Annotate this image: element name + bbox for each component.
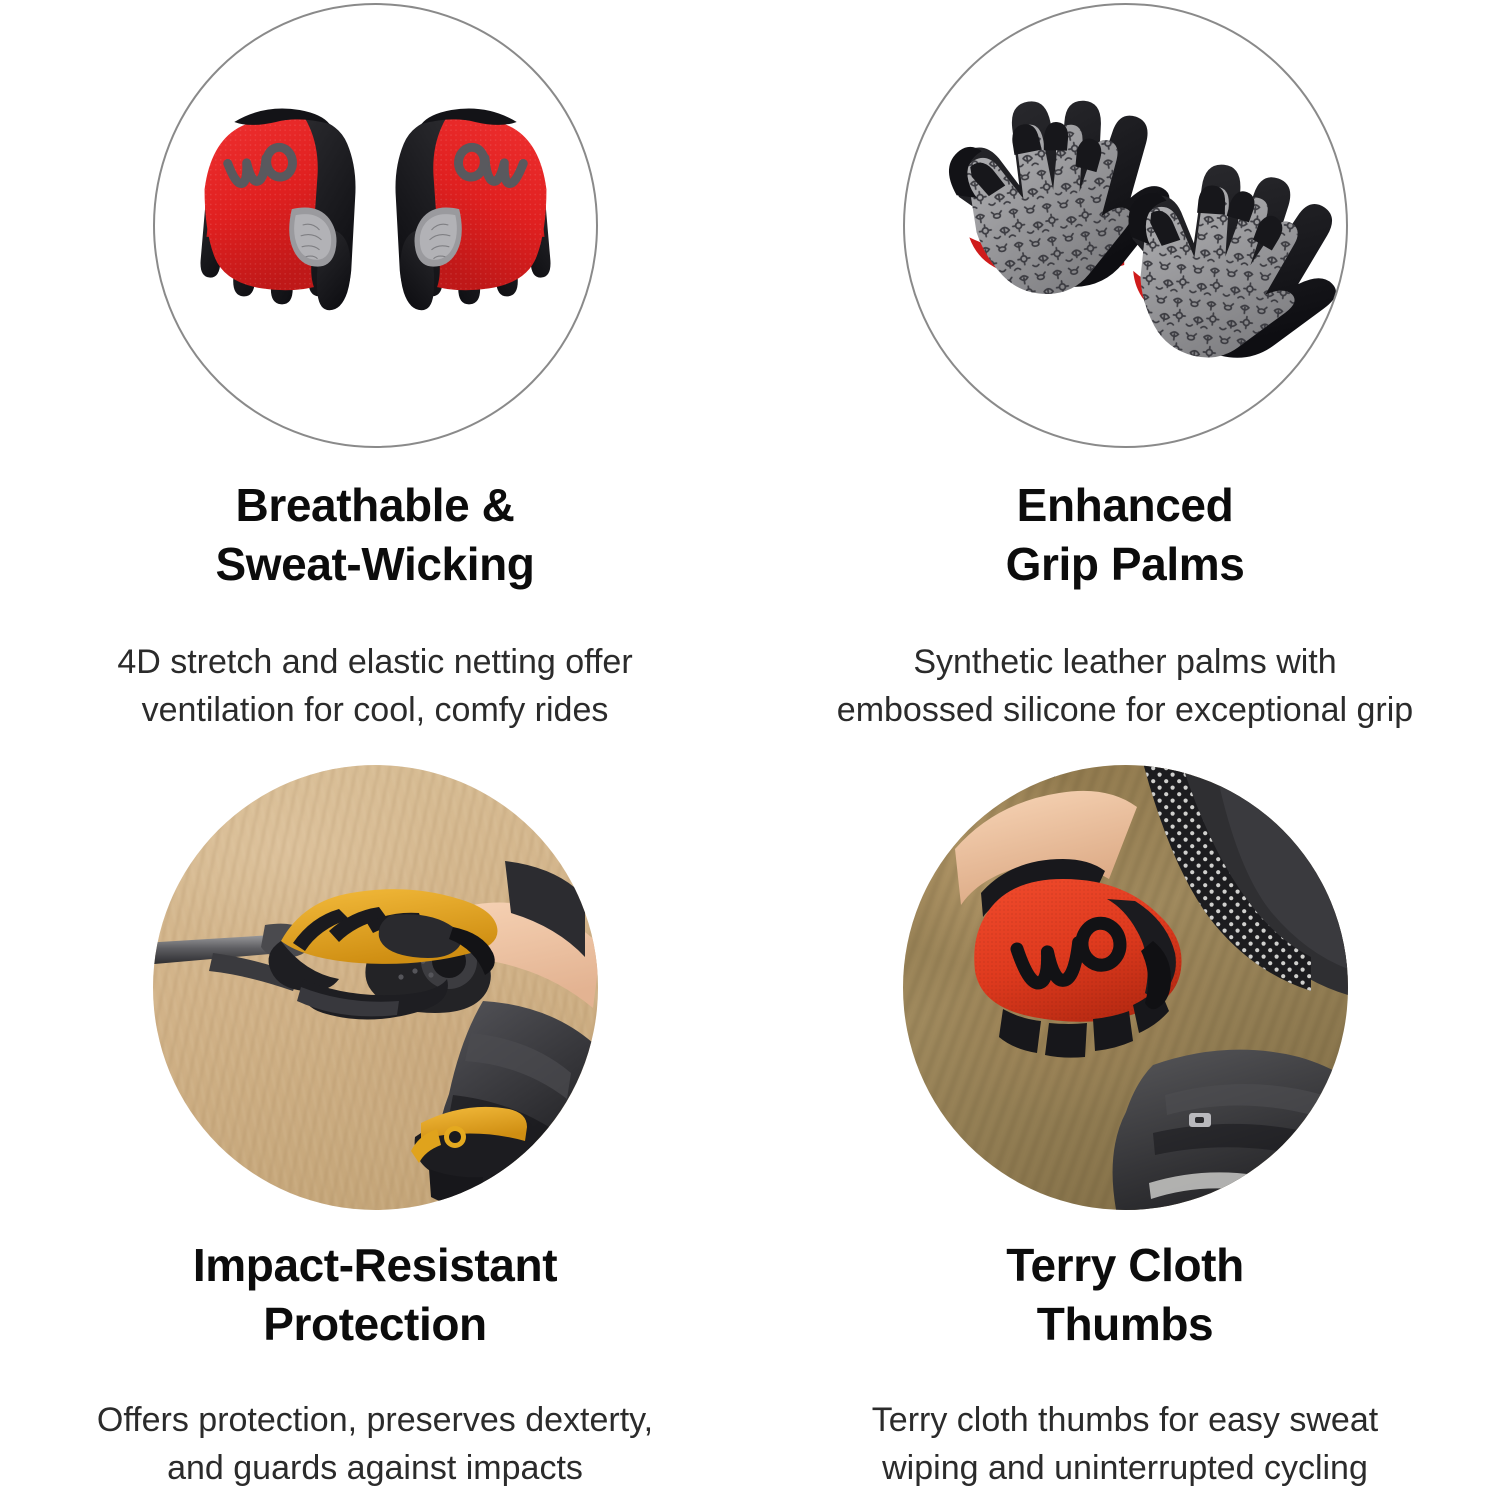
cyclist-gripping-handlebar-lifestyle-photo (153, 765, 598, 1210)
feature-body-line: Terry cloth thumbs for easy sweat (765, 1396, 1485, 1444)
red-glove-hand (974, 859, 1181, 1058)
feature-heading-line: Protection (45, 1295, 705, 1354)
feature-panel-impact-resistant-protection: Impact-Resistant Protection Offers prote… (0, 745, 750, 1490)
feature-grid: Breathable & Sweat-Wicking 4D stretch an… (0, 0, 1500, 1490)
feature-body-line: Offers protection, preserves dexterty, (15, 1396, 735, 1444)
feature-panel-enhanced-grip-palms: Enhanced Grip Palms Synthetic leather pa… (750, 0, 1500, 745)
feature-heading-line: Impact-Resistant (45, 1236, 705, 1295)
feature-body-line: 4D stretch and elastic netting offer (15, 638, 735, 686)
feature-heading-line: Grip Palms (795, 535, 1455, 594)
feature-body-line: ventilation for cool, comfy rides (15, 686, 735, 734)
feature-heading-line: Sweat-Wicking (45, 535, 705, 594)
grey-palm-gloves-pair-product-photo (903, 3, 1348, 448)
feature-body-line: embossed silicone for exceptional grip (765, 686, 1485, 734)
feature-body-line: wiping and uninterrupted cycling (765, 1444, 1485, 1492)
yellow-black-glove-lower (411, 1107, 535, 1207)
feature-body: Terry cloth thumbs for easy sweat wiping… (765, 1396, 1485, 1492)
feature-heading: Enhanced Grip Palms (795, 476, 1455, 594)
feature-panel-terry-cloth-thumbs: Terry Cloth Thumbs Terry cloth thumbs fo… (750, 745, 1500, 1490)
feature-body-line: and guards against impacts (15, 1444, 735, 1492)
red-glove-left (200, 109, 355, 311)
feature-heading-line: Enhanced (795, 476, 1455, 535)
feature-body-line: Synthetic leather palms with (765, 638, 1485, 686)
yellow-black-glove-upper (268, 889, 497, 1019)
red-gloves-pair-product-photo (153, 3, 598, 448)
red-glove-right (395, 109, 550, 311)
feature-heading-line: Breathable & (45, 476, 705, 535)
feature-panel-breathable-sweat-wicking: Breathable & Sweat-Wicking 4D stretch an… (0, 0, 750, 745)
feature-body: 4D stretch and elastic netting offer ven… (15, 638, 735, 735)
feature-heading: Breathable & Sweat-Wicking (45, 476, 705, 594)
feature-body: Offers protection, preserves dexterty, a… (15, 1396, 735, 1492)
feature-heading: Impact-Resistant Protection (45, 1236, 705, 1354)
feature-heading: Terry Cloth Thumbs (795, 1236, 1455, 1354)
red-glove-wiping-on-shorts-lifestyle-photo (903, 765, 1348, 1210)
feature-heading-line: Thumbs (795, 1295, 1455, 1354)
feature-heading-line: Terry Cloth (795, 1236, 1455, 1295)
feature-body: Synthetic leather palms with embossed si… (765, 638, 1485, 735)
